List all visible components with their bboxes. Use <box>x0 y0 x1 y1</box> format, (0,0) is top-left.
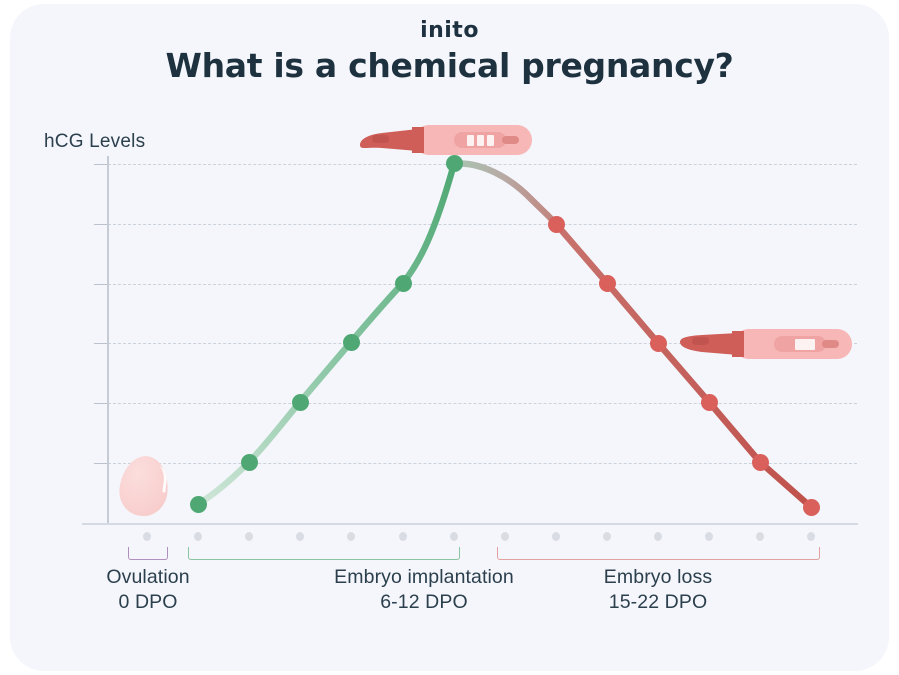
data-point-fall <box>803 499 820 516</box>
data-point-rise <box>292 394 309 411</box>
bracket-ovulation <box>128 547 168 560</box>
data-point-fall <box>752 454 769 471</box>
test-cap-hole <box>502 136 519 144</box>
phase-name: Ovulation <box>63 565 233 590</box>
test-result-window <box>454 132 506 148</box>
data-point-fall <box>650 335 667 352</box>
test-cap-hole <box>822 340 839 348</box>
negative-pregnancy-test-icon <box>678 329 852 359</box>
phase-label-embryo-loss: Embryo loss 15-22 DPO <box>518 565 798 615</box>
test-line-extra <box>487 135 494 146</box>
chart-plot-area: Ovulation 0 DPO Embryo implantation 6-12… <box>10 4 889 671</box>
test-result-window <box>774 336 826 352</box>
positive-pregnancy-test-icon <box>358 125 532 155</box>
data-point-fall <box>599 275 616 292</box>
data-point-fall <box>701 394 718 411</box>
bracket-implantation <box>188 547 460 560</box>
data-point-rise <box>190 496 207 513</box>
phase-dpo: 0 DPO <box>63 590 233 615</box>
phase-name: Embryo loss <box>518 565 798 590</box>
test-line-control <box>795 339 815 350</box>
data-point-rise <box>241 454 258 471</box>
test-tip-hole <box>372 135 389 143</box>
data-point-fall <box>548 216 565 233</box>
data-point-rise <box>343 334 360 351</box>
phase-dpo: 15-22 DPO <box>518 590 798 615</box>
test-line-test <box>477 135 484 146</box>
test-tip-hole <box>692 337 709 345</box>
infographic-card: inito What is a chemical pregnancy? hCG … <box>10 4 889 671</box>
data-point-rise <box>446 155 463 172</box>
test-line-blank <box>785 339 792 350</box>
data-point-rise <box>395 275 412 292</box>
bracket-embryo-loss <box>497 547 820 560</box>
test-line-control <box>467 135 474 146</box>
phase-label-ovulation: Ovulation 0 DPO <box>63 565 233 615</box>
